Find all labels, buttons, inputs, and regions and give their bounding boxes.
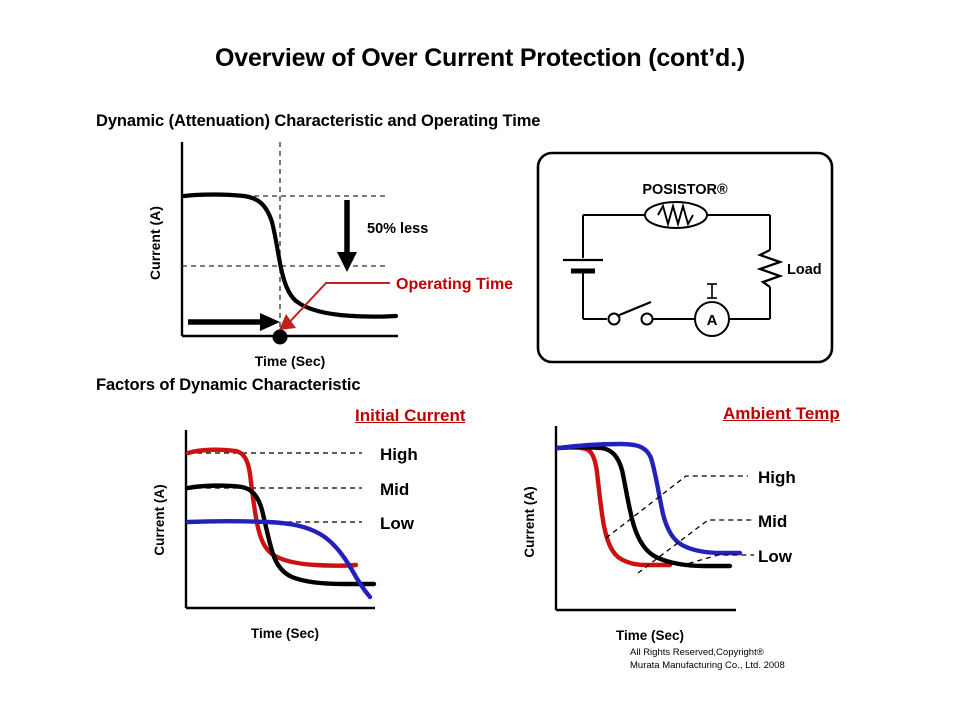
legend-label-high: High xyxy=(758,468,796,487)
y-axis-label: Current (A) xyxy=(522,486,537,557)
x-axis-label: Time (Sec) xyxy=(616,628,684,643)
operating-time-point xyxy=(273,330,288,345)
operating-time-label: Operating Time xyxy=(396,276,513,293)
fifty-percent-arrow xyxy=(337,200,357,272)
x-axis-label: Time (Sec) xyxy=(255,353,326,369)
legend-label-mid: Mid xyxy=(758,512,787,531)
legend-label-high: High xyxy=(380,445,418,464)
x-axis-label: Time (Sec) xyxy=(251,626,319,641)
chart-operating-time: Current (A) Time (Sec) 50% less Opera xyxy=(140,138,540,378)
circuit-title-label: POSISTOR® xyxy=(642,182,728,198)
chart-ambient-temp: Current (A) Time (Sec) High Mid Low xyxy=(510,398,890,648)
circuit-diagram: POSISTOR® xyxy=(535,150,835,365)
chart-initial-current: Current (A) Time (Sec) High Mid Low xyxy=(140,398,520,648)
curve-low xyxy=(558,444,740,553)
ammeter-icon: A xyxy=(695,302,729,336)
posistor-icon xyxy=(645,202,707,228)
copyright-footer: All Rights Reserved,Copyright® Murata Ma… xyxy=(630,646,785,672)
page-title: Overview of Over Current Protection (con… xyxy=(0,44,960,73)
curve-mid xyxy=(188,486,374,584)
section-heading-dynamic: Dynamic (Attenuation) Characteristic and… xyxy=(96,112,540,131)
copyright-line-1: All Rights Reserved,Copyright® xyxy=(630,646,785,659)
ammeter-label: A xyxy=(707,312,718,329)
y-axis-label: Current (A) xyxy=(152,484,167,555)
elapsed-time-arrow xyxy=(188,313,280,331)
legend-label-low: Low xyxy=(758,547,793,566)
fifty-percent-less-label: 50% less xyxy=(367,221,428,237)
load-label: Load xyxy=(787,262,822,278)
slide-canvas: Overview of Over Current Protection (con… xyxy=(0,0,960,720)
copyright-line-2: Murata Manufacturing Co., Ltd. 2008 xyxy=(630,659,785,672)
curve-current-decay xyxy=(184,195,396,317)
section-heading-factors: Factors of Dynamic Characteristic xyxy=(96,376,360,395)
legend-label-low: Low xyxy=(380,514,415,533)
curve-mid xyxy=(558,447,730,566)
legend-label-mid: Mid xyxy=(380,480,409,499)
operating-time-pointer xyxy=(279,283,390,330)
y-axis-label: Current (A) xyxy=(147,206,163,280)
